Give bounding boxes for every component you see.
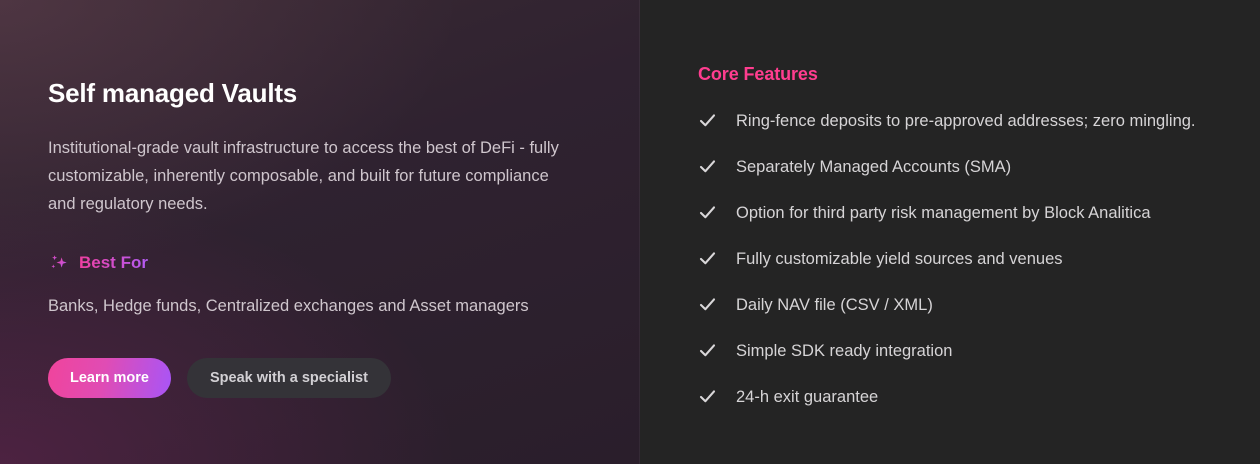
list-item: Fully customizable yield sources and ven…	[698, 245, 1234, 273]
sparkle-icon	[48, 252, 70, 274]
product-description: Institutional-grade vault infrastructure…	[48, 134, 578, 218]
best-for-heading: Best For	[48, 252, 640, 274]
learn-more-button[interactable]: Learn more	[48, 358, 171, 398]
check-icon	[698, 249, 717, 268]
speak-with-specialist-button[interactable]: Speak with a specialist	[187, 358, 391, 398]
feature-text: Fully customizable yield sources and ven…	[736, 245, 1063, 273]
list-item: Simple SDK ready integration	[698, 337, 1234, 365]
cta-button-row: Learn more Speak with a specialist	[48, 358, 640, 398]
vault-product-card: Self managed Vaults Institutional-grade …	[0, 0, 1260, 464]
right-panel: Core Features Ring-fence deposits to pre…	[640, 0, 1260, 464]
feature-text: 24-h exit guarantee	[736, 383, 878, 411]
feature-text: Simple SDK ready integration	[736, 337, 952, 365]
check-icon	[698, 387, 717, 406]
check-icon	[698, 157, 717, 176]
feature-text: Ring-fence deposits to pre-approved addr…	[736, 107, 1196, 135]
feature-text: Separately Managed Accounts (SMA)	[736, 153, 1011, 181]
left-panel: Self managed Vaults Institutional-grade …	[0, 0, 640, 464]
list-item: 24-h exit guarantee	[698, 383, 1234, 411]
check-icon	[698, 341, 717, 360]
list-item: Separately Managed Accounts (SMA)	[698, 153, 1234, 181]
list-item: Option for third party risk management b…	[698, 199, 1234, 227]
core-features-list: Ring-fence deposits to pre-approved addr…	[698, 107, 1234, 411]
check-icon	[698, 203, 717, 222]
list-item: Ring-fence deposits to pre-approved addr…	[698, 107, 1234, 135]
page-title: Self managed Vaults	[48, 78, 640, 109]
list-item: Daily NAV file (CSV / XML)	[698, 291, 1234, 319]
feature-text: Daily NAV file (CSV / XML)	[736, 291, 933, 319]
check-icon	[698, 295, 717, 314]
core-features-title: Core Features	[698, 64, 1234, 85]
check-icon	[698, 111, 717, 130]
feature-text: Option for third party risk management b…	[736, 199, 1151, 227]
best-for-audience: Banks, Hedge funds, Centralized exchange…	[48, 292, 548, 320]
best-for-label: Best For	[79, 253, 148, 273]
